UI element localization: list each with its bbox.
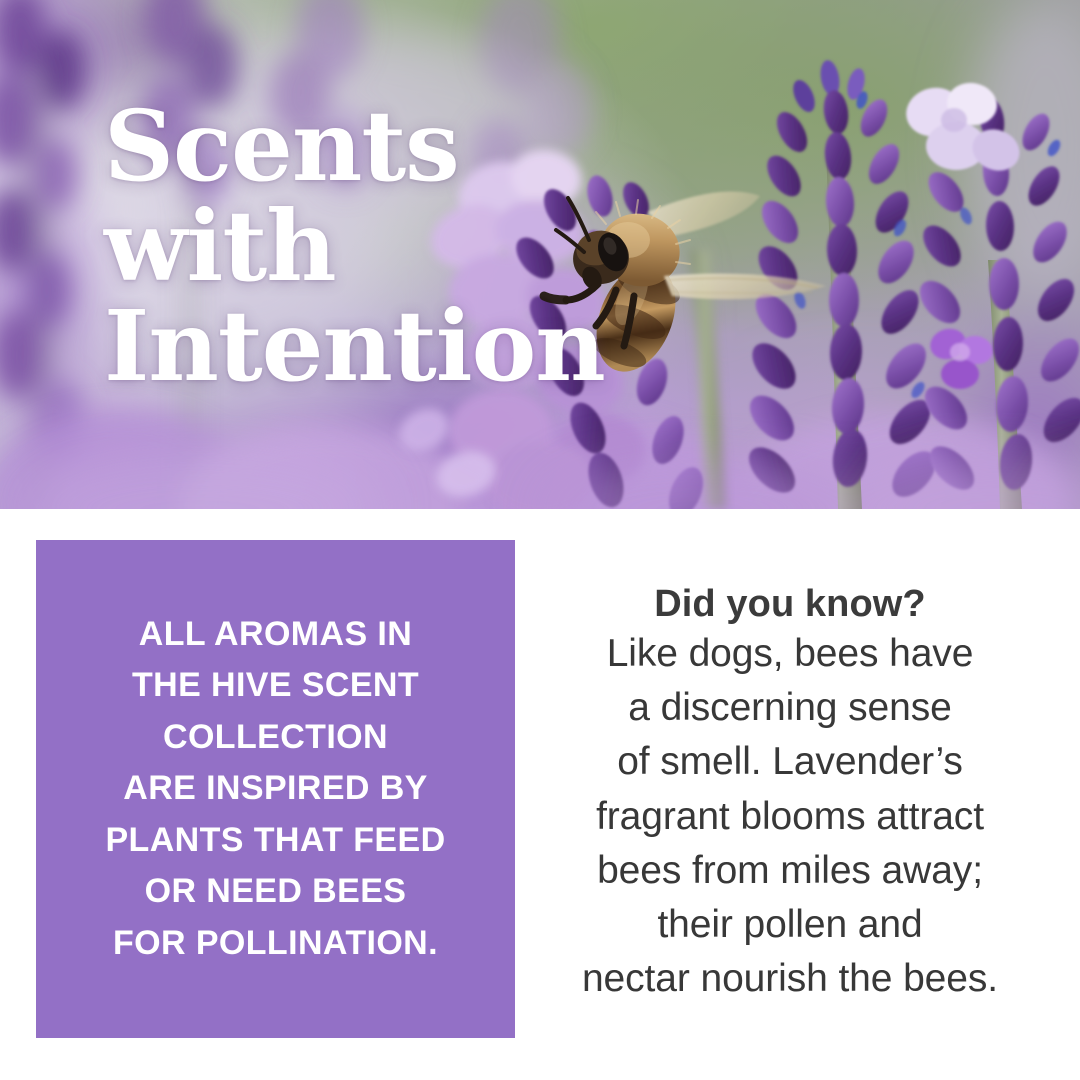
collection-callout-text: ALL AROMAS IN THE HIVE SCENT COLLECTION … bbox=[36, 609, 515, 970]
title-line-3: Intention bbox=[104, 296, 624, 396]
page-title: Scents with Intention bbox=[104, 96, 624, 396]
did-you-know-body: Like dogs, bees have a discerning sense … bbox=[528, 627, 1052, 1006]
marketing-graphic: Scents with Intention ALL AROMAS IN THE … bbox=[0, 0, 1080, 1080]
lower-content-section: ALL AROMAS IN THE HIVE SCENT COLLECTION … bbox=[0, 509, 1080, 1080]
did-you-know-column: Did you know? Like dogs, bees have a dis… bbox=[528, 581, 1052, 1006]
collection-callout-panel: ALL AROMAS IN THE HIVE SCENT COLLECTION … bbox=[36, 540, 515, 1038]
title-line-1: Scents bbox=[104, 96, 624, 196]
did-you-know-heading: Did you know? bbox=[528, 581, 1052, 627]
hero-lavender-bee-photo: Scents with Intention bbox=[0, 0, 1080, 509]
title-line-2: with bbox=[104, 196, 624, 296]
